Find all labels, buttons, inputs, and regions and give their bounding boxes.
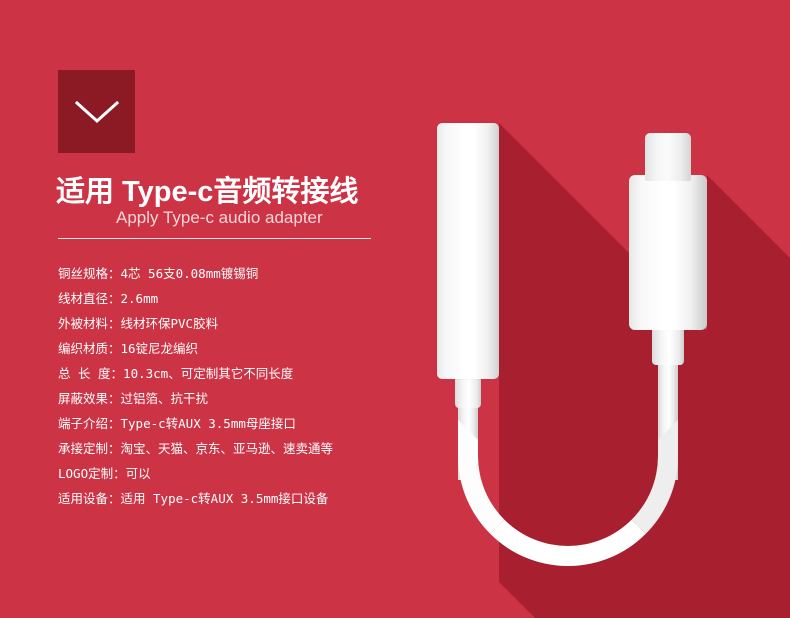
spec-item: 编织材质：16锭尼龙编织 <box>58 336 388 361</box>
spec-list: 铜丝规格：4芯 56支0.08mm镀锡铜 线材直径：2.6mm 外被材料：线材环… <box>58 261 388 511</box>
aux-female-jack <box>437 123 499 379</box>
spec-item: 端子介绍：Type-c转AUX 3.5mm母座接口 <box>58 411 388 436</box>
page-title: 适用 Type-c音频转接线 <box>56 178 358 207</box>
cable-loop-highlight <box>464 426 672 560</box>
spec-item: 外被材料：线材环保PVC胶料 <box>58 311 388 336</box>
jack-strain-relief <box>455 374 481 408</box>
usbc-connector-tip <box>645 133 691 181</box>
spec-item: 线材直径：2.6mm <box>58 286 388 311</box>
spec-item: 铜丝规格：4芯 56支0.08mm镀锡铜 <box>58 261 388 286</box>
product-banner: 适用 Type-c音频转接线 Apply Type-c audio adapte… <box>0 0 790 618</box>
spec-item: LOGO定制：可以 <box>58 461 388 486</box>
page-subtitle: Apply Type-c audio adapter <box>116 209 323 226</box>
spec-item: 适用设备：适用 Type-c转AUX 3.5mm接口设备 <box>58 486 388 511</box>
usbc-strain-relief <box>652 325 684 365</box>
spec-item: 总 长 度：10.3cm、可定制其它不同长度 <box>58 361 388 386</box>
spec-item: 承接定制：淘宝、天猫、京东、亚马逊、速卖通等 <box>58 436 388 461</box>
chevron-badge <box>58 70 135 153</box>
usbc-connector-body <box>629 175 707 330</box>
chevron-down-icon <box>74 99 120 125</box>
title-divider <box>58 238 371 239</box>
spec-item: 屏蔽效果：过铝箔、抗干扰 <box>58 386 388 411</box>
